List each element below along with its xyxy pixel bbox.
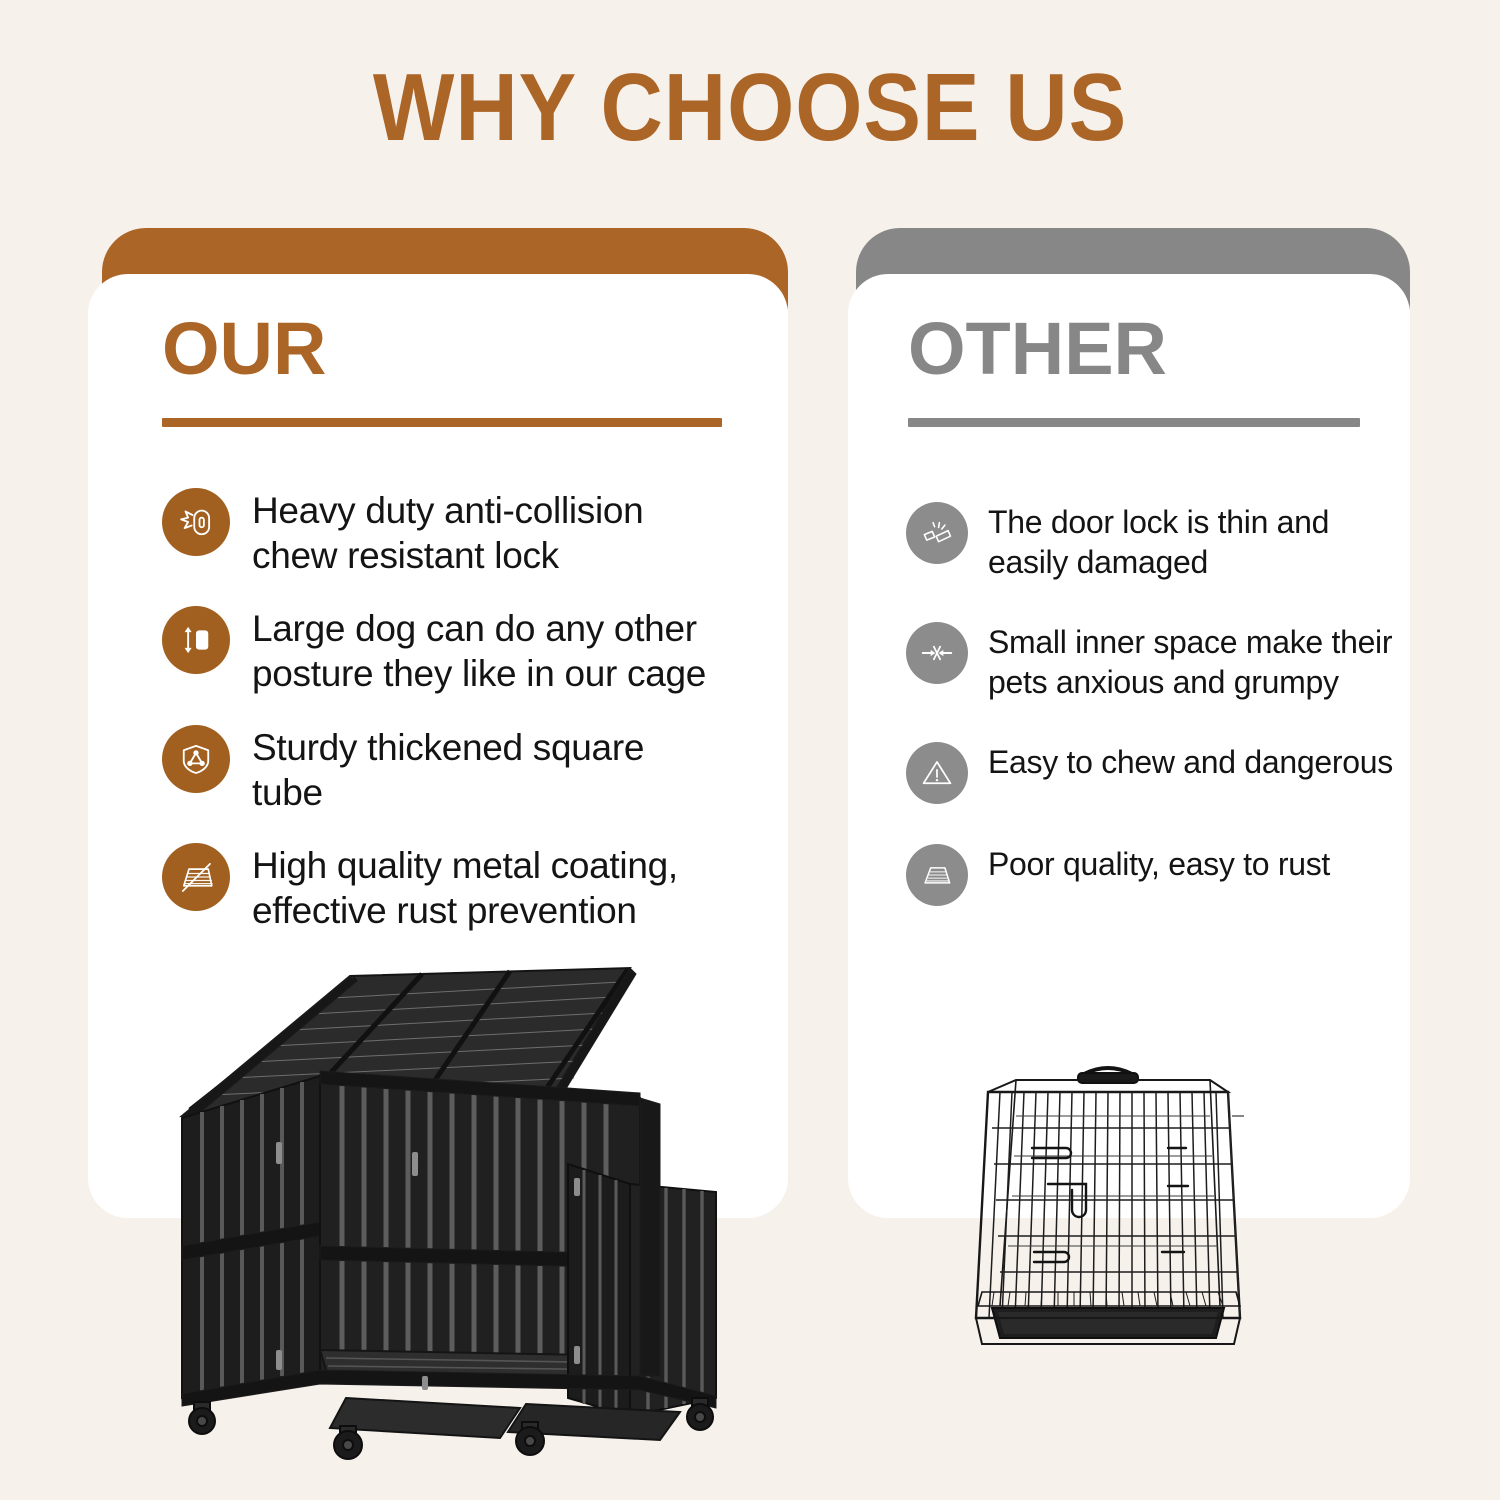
- feature-text-other-4: Poor quality, easy to rust: [988, 842, 1330, 884]
- compressed-space-arrows-icon: [906, 622, 968, 684]
- card-heading-our: OUR: [162, 312, 326, 386]
- heading-rule-other: [908, 418, 1360, 427]
- coated-panel-no-rust-icon: [162, 843, 230, 911]
- feature-text-other-3: Easy to chew and dangerous: [988, 740, 1393, 782]
- feature-text-our-3: Sturdy thickened square tube: [252, 723, 722, 815]
- feature-text-our-1: Heavy duty anti-collision chew resistant…: [252, 486, 722, 578]
- feature-item-other-3: Easy to chew and dangerous: [906, 740, 1396, 804]
- card-heading-other: OTHER: [908, 312, 1167, 386]
- feature-item-our-4: High quality metal coating, effective ru…: [162, 841, 722, 933]
- feature-list-our: Heavy duty anti-collision chew resistant…: [162, 486, 722, 959]
- feature-text-other-2: Small inner space make their pets anxiou…: [988, 620, 1396, 702]
- feature-list-other: The door lock is thin and easily damaged…: [906, 500, 1396, 944]
- feature-item-other-4: Poor quality, easy to rust: [906, 842, 1396, 906]
- feature-item-other-2: Small inner space make their pets anxiou…: [906, 620, 1396, 702]
- product-image-wire-crate: [948, 1056, 1268, 1356]
- feature-item-our-1: Heavy duty anti-collision chew resistant…: [162, 486, 722, 578]
- impact-lock-icon: [162, 488, 230, 556]
- warning-triangle-icon: [906, 742, 968, 804]
- heading-rule-our: [162, 418, 722, 427]
- infographic-stage: WHY CHOOSE US OUR Heavy duty anti-collis…: [0, 0, 1500, 1500]
- feature-text-other-1: The door lock is thin and easily damaged: [988, 500, 1396, 582]
- rusty-panel-icon: [906, 844, 968, 906]
- shield-tube-icon: [162, 725, 230, 793]
- product-image-heavy-duty-crate: [160, 946, 740, 1476]
- vertical-space-arrow-icon: [162, 606, 230, 674]
- feature-item-our-3: Sturdy thickened square tube: [162, 723, 722, 815]
- feature-text-our-2: Large dog can do any other posture they …: [252, 604, 722, 696]
- feature-text-our-4: High quality metal coating, effective ru…: [252, 841, 722, 933]
- page-title: WHY CHOOSE US: [75, 58, 1425, 159]
- feature-item-our-2: Large dog can do any other posture they …: [162, 604, 722, 696]
- feature-item-other-1: The door lock is thin and easily damaged: [906, 500, 1396, 582]
- broken-lock-icon: [906, 502, 968, 564]
